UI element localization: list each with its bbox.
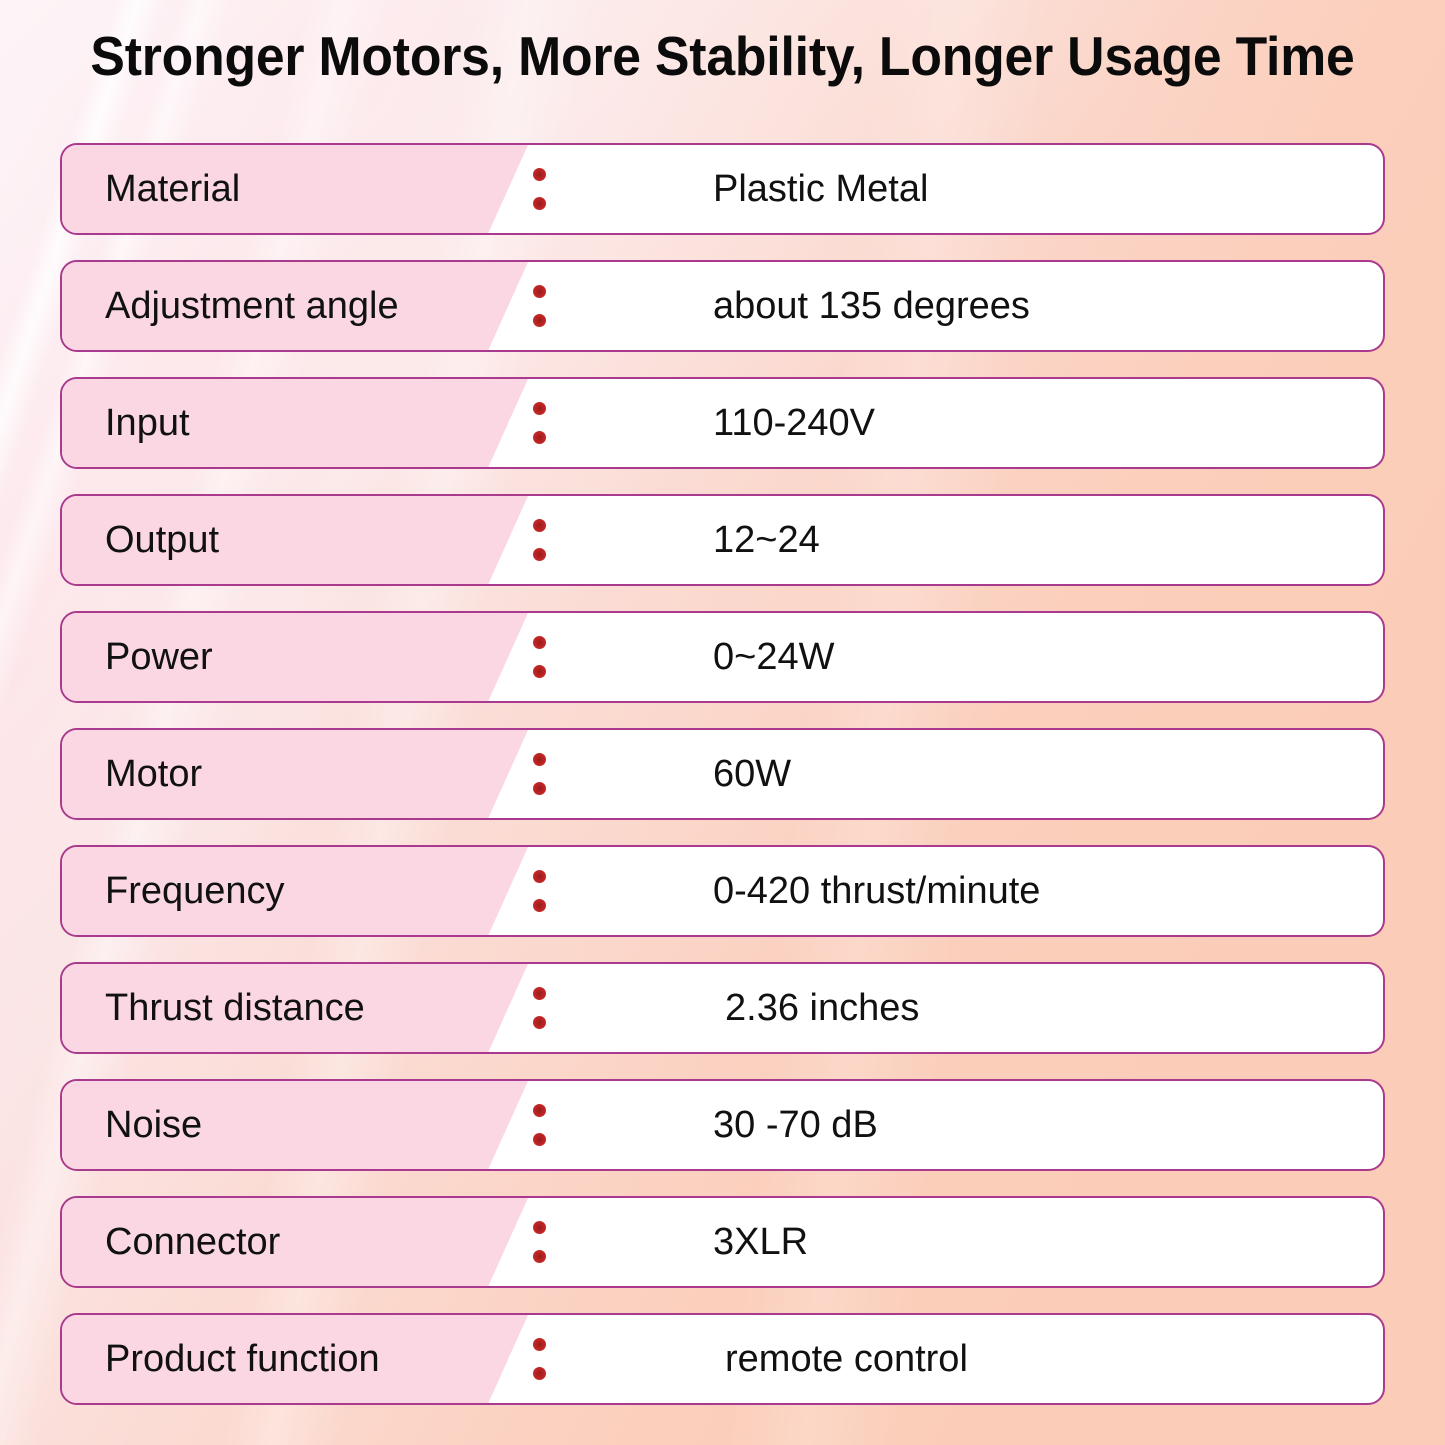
- spec-label: Connector: [105, 1198, 280, 1286]
- spec-label: Noise: [105, 1081, 202, 1169]
- colon-dot-upper-icon: [533, 1338, 546, 1351]
- colon-dot-lower-icon: [533, 1016, 546, 1029]
- colon-dot-lower-icon: [533, 1250, 546, 1263]
- spec-value: 2.36 inches: [725, 964, 919, 1052]
- colon-dot-lower-icon: [533, 1133, 546, 1146]
- table-row: Frequency 0-420 thrust/minute: [60, 845, 1385, 937]
- colon-dot-upper-icon: [533, 753, 546, 766]
- spec-sheet-canvas: Stronger Motors, More Stability, Longer …: [0, 0, 1445, 1445]
- colon-dot-upper-icon: [533, 870, 546, 883]
- spec-label: Motor: [105, 730, 202, 818]
- colon-separator-icon: [533, 285, 546, 327]
- colon-dot-lower-icon: [533, 665, 546, 678]
- table-row: Thrust distance 2.36 inches: [60, 962, 1385, 1054]
- spec-label: Power: [105, 613, 213, 701]
- colon-separator-icon: [533, 753, 546, 795]
- colon-dot-lower-icon: [533, 197, 546, 210]
- table-row: Input 110-240V: [60, 377, 1385, 469]
- colon-separator-icon: [533, 1104, 546, 1146]
- colon-separator-icon: [533, 636, 546, 678]
- spec-label: Thrust distance: [105, 964, 365, 1052]
- colon-dot-upper-icon: [533, 402, 546, 415]
- spec-label: Adjustment angle: [105, 262, 399, 350]
- colon-separator-icon: [533, 987, 546, 1029]
- colon-dot-upper-icon: [533, 987, 546, 1000]
- spec-label: Product function: [105, 1315, 380, 1403]
- colon-dot-lower-icon: [533, 899, 546, 912]
- spec-value: 12~24: [713, 496, 820, 584]
- spec-label: Frequency: [105, 847, 285, 935]
- spec-value: 3XLR: [713, 1198, 808, 1286]
- table-row: Connector 3XLR: [60, 1196, 1385, 1288]
- spec-value: 60W: [713, 730, 791, 818]
- colon-separator-icon: [533, 870, 546, 912]
- colon-dot-upper-icon: [533, 285, 546, 298]
- spec-value: about 135 degrees: [713, 262, 1030, 350]
- colon-dot-upper-icon: [533, 636, 546, 649]
- spec-value: remote control: [725, 1315, 968, 1403]
- spec-label: Output: [105, 496, 219, 584]
- table-row: Material Plastic Metal: [60, 143, 1385, 235]
- table-row: Output 12~24: [60, 494, 1385, 586]
- spec-label: Material: [105, 145, 240, 233]
- colon-dot-lower-icon: [533, 548, 546, 561]
- colon-separator-icon: [533, 168, 546, 210]
- spec-table: Material Plastic Metal Adjustment angle …: [60, 143, 1385, 1405]
- spec-value: 110-240V: [713, 379, 875, 467]
- spec-value: 0-420 thrust/minute: [713, 847, 1040, 935]
- spec-value: Plastic Metal: [713, 145, 928, 233]
- table-row: Noise 30 -70 dB: [60, 1079, 1385, 1171]
- colon-dot-lower-icon: [533, 782, 546, 795]
- colon-separator-icon: [533, 1338, 546, 1380]
- colon-dot-lower-icon: [533, 314, 546, 327]
- colon-dot-upper-icon: [533, 1221, 546, 1234]
- spec-value: 0~24W: [713, 613, 834, 701]
- spec-label: Input: [105, 379, 190, 467]
- colon-separator-icon: [533, 402, 546, 444]
- colon-dot-upper-icon: [533, 168, 546, 181]
- page-title: Stronger Motors, More Stability, Longer …: [43, 28, 1401, 86]
- colon-separator-icon: [533, 519, 546, 561]
- colon-dot-lower-icon: [533, 1367, 546, 1380]
- colon-dot-lower-icon: [533, 431, 546, 444]
- colon-separator-icon: [533, 1221, 546, 1263]
- table-row: Product function remote control: [60, 1313, 1385, 1405]
- table-row: Adjustment angle about 135 degrees: [60, 260, 1385, 352]
- colon-dot-upper-icon: [533, 519, 546, 532]
- table-row: Motor 60W: [60, 728, 1385, 820]
- spec-value: 30 -70 dB: [713, 1081, 878, 1169]
- table-row: Power 0~24W: [60, 611, 1385, 703]
- colon-dot-upper-icon: [533, 1104, 546, 1117]
